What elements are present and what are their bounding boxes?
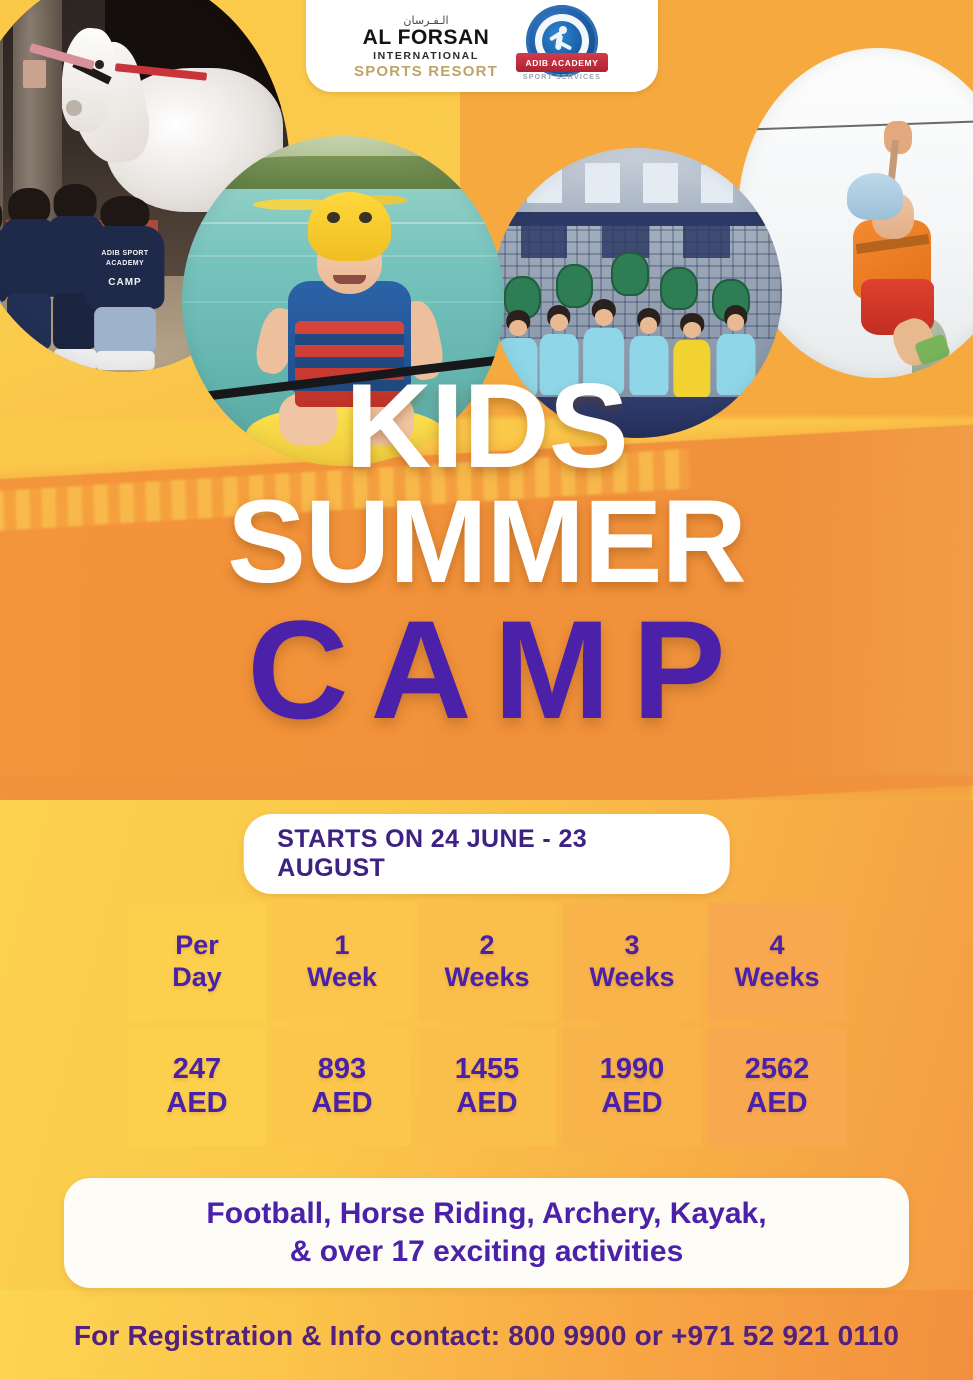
pricing-header-cell: 3 Weeks	[563, 903, 701, 1021]
al-forsan-sports-resort: SPORTS RESORT	[354, 64, 498, 79]
shirt-text-bottom: CAMP	[97, 275, 152, 290]
pricing-header-line1: 4	[769, 930, 784, 962]
pricing-value-cell: 1990 AED	[563, 1028, 701, 1146]
pricing-header-line2: Weeks	[444, 962, 529, 994]
pricing-header-cell: 4 Weeks	[708, 903, 846, 1021]
pricing-currency: AED	[746, 1087, 807, 1121]
date-pill-text: STARTS ON 24 JUNE - 23 AUGUST	[277, 825, 587, 882]
activities-line1: Football, Horse Riding, Archery, Kayak,	[206, 1195, 766, 1233]
pricing-amount: 1990	[600, 1053, 665, 1087]
headline-camp: CAMP	[0, 600, 973, 740]
pricing-currency: AED	[166, 1087, 227, 1121]
pricing-amount: 2562	[745, 1053, 810, 1087]
pricing-value-cell: 2562 AED	[708, 1028, 846, 1146]
al-forsan-name: AL FORSAN	[354, 27, 498, 48]
pricing-header-line2: Weeks	[734, 962, 819, 994]
headline-kids: KIDS	[0, 370, 973, 483]
adib-academy-logo: ADIB ACADEMY SPORT SERVICES	[514, 3, 610, 89]
al-forsan-logo: الـفـرسان AL FORSAN INTERNATIONAL SPORTS…	[354, 13, 498, 79]
pricing-currency: AED	[456, 1087, 517, 1121]
pricing-amount: 893	[318, 1053, 366, 1087]
activities-line2: & over 17 exciting activities	[290, 1233, 684, 1271]
al-forsan-international: INTERNATIONAL	[354, 51, 498, 62]
adib-banner: ADIB ACADEMY	[516, 53, 608, 72]
pricing-header-cell: 1 Week	[273, 903, 411, 1021]
adib-banner-text: ADIB ACADEMY	[525, 58, 598, 68]
pricing-header-line1: 1	[334, 930, 349, 962]
pricing-value-cell: 1455 AED	[418, 1028, 556, 1146]
contact-text: For Registration & Info contact: 800 990…	[74, 1320, 899, 1351]
pricing-header-cell: Per Day	[128, 903, 266, 1021]
al-forsan-arabic-text: الـفـرسان	[354, 15, 498, 26]
adib-athlete-icon	[547, 25, 577, 55]
headline: KIDS SUMMER CAMP	[0, 370, 973, 740]
pricing-header-line2: Weeks	[589, 962, 674, 994]
pricing-value-cell: 247 AED	[128, 1028, 266, 1146]
pricing-header-cell: 2 Weeks	[418, 903, 556, 1021]
adib-subtitle: SPORT SERVICES	[514, 74, 610, 81]
pricing-header-line1: Per	[175, 930, 219, 962]
poster: ADIB SPORT ACADEMY CAMP	[0, 0, 973, 1380]
headline-summer: SUMMER	[0, 487, 973, 598]
pricing-header-line1: 2	[479, 930, 494, 962]
pricing-value-cell: 893 AED	[273, 1028, 411, 1146]
pricing-header-line2: Day	[172, 962, 222, 994]
pricing-amount: 247	[173, 1053, 221, 1087]
pricing-table: Per Day 1 Week 2 Weeks 3 Weeks 4 Weeks 2…	[128, 903, 846, 1146]
pricing-currency: AED	[311, 1087, 372, 1121]
date-pill: STARTS ON 24 JUNE - 23 AUGUST	[243, 814, 730, 894]
pricing-currency: AED	[601, 1087, 662, 1121]
pricing-header-line1: 3	[624, 930, 639, 962]
shirt-text-top: ADIB SPORT ACADEMY	[91, 249, 159, 270]
contact-line: For Registration & Info contact: 800 990…	[0, 1320, 973, 1352]
activities-box: Football, Horse Riding, Archery, Kayak, …	[64, 1178, 909, 1288]
pricing-header-line2: Week	[307, 962, 377, 994]
pricing-amount: 1455	[455, 1053, 520, 1087]
logo-badge: الـفـرسان AL FORSAN INTERNATIONAL SPORTS…	[306, 0, 658, 92]
